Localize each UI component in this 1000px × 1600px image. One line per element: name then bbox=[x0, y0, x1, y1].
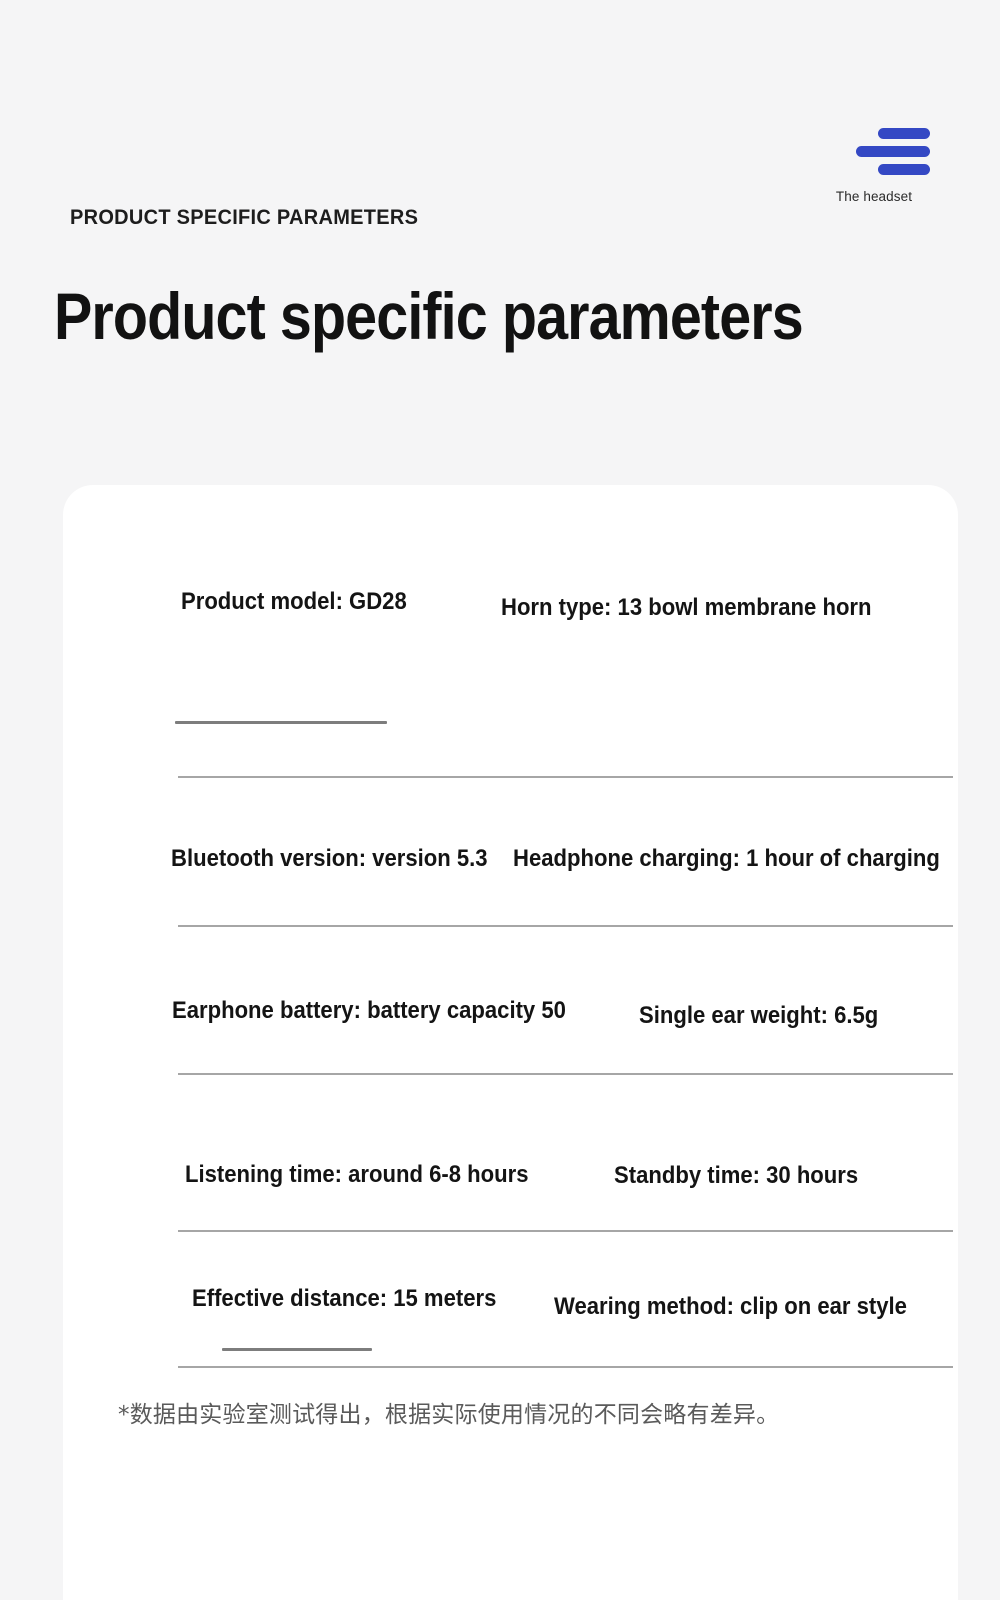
spec-cell-left: Bluetooth version: version 5.3 bbox=[171, 845, 488, 873]
spec-divider-line bbox=[178, 1073, 953, 1075]
footnote-disclaimer: *数据由实验室测试得出，根据实际使用情况的不同会略有差异。 bbox=[118, 1395, 779, 1429]
spec-card: Product model: GD28 Horn type: 13 bowl m… bbox=[63, 485, 958, 1600]
spec-cell-right: Wearing method: clip on ear style bbox=[554, 1293, 907, 1321]
spec-cell-right: Standby time: 30 hours bbox=[614, 1162, 858, 1190]
spec-cell-left: Effective distance: 15 meters bbox=[192, 1285, 496, 1313]
spec-accent-line bbox=[222, 1348, 372, 1351]
spec-divider-line bbox=[178, 776, 953, 778]
spec-accent-line bbox=[175, 721, 387, 724]
spec-cell-right: Horn type: 13 bowl membrane horn bbox=[501, 594, 872, 622]
page-header: PRODUCT SPECIFIC PARAMETERS The headset bbox=[0, 0, 1000, 270]
product-spec-page: PRODUCT SPECIFIC PARAMETERS The headset … bbox=[0, 0, 1000, 1600]
logo-bar-bottom-icon bbox=[878, 164, 930, 175]
brand-name-label: The headset bbox=[810, 189, 942, 204]
spec-cell-left: Product model: GD28 bbox=[181, 588, 407, 616]
logo-bars-icon bbox=[810, 128, 942, 175]
spec-cell-right: Single ear weight: 6.5g bbox=[639, 1002, 878, 1030]
spec-divider-line bbox=[178, 1366, 953, 1368]
spec-cell-left: Earphone battery: battery capacity 50 bbox=[172, 997, 566, 1025]
spec-divider-line bbox=[178, 1230, 953, 1232]
spec-divider-line bbox=[178, 925, 953, 927]
logo-bar-top-icon bbox=[878, 128, 930, 139]
spec-cell-left: Listening time: around 6-8 hours bbox=[185, 1161, 528, 1189]
logo-bar-middle-icon bbox=[856, 146, 930, 157]
page-title: Product specific parameters bbox=[54, 283, 803, 349]
brand-logo: The headset bbox=[810, 128, 942, 204]
eyebrow-label: PRODUCT SPECIFIC PARAMETERS bbox=[70, 205, 418, 230]
spec-cell-right: Headphone charging: 1 hour of charging bbox=[513, 845, 940, 873]
